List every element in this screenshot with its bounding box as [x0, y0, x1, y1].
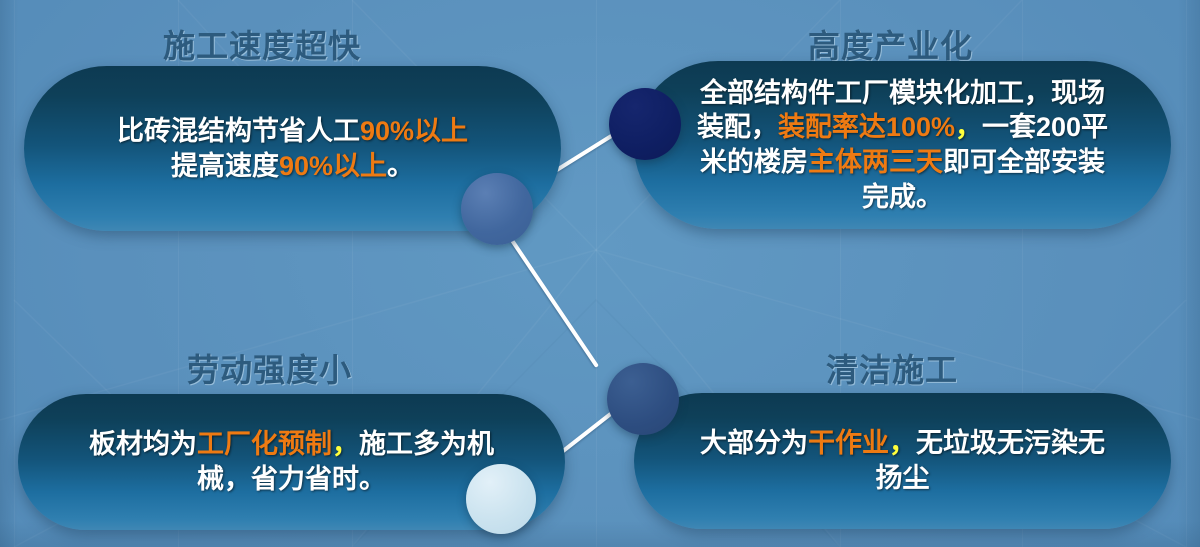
- text-plain: 装配，: [697, 112, 778, 142]
- node-lower-left: [466, 464, 536, 534]
- text-comma-highlight: ，: [955, 112, 982, 142]
- capsule-line: 提高速度90%以上。: [46, 149, 539, 184]
- text-plain: 米的楼房: [700, 147, 808, 177]
- text-plain: 提高速度: [171, 151, 279, 181]
- text-plain: 完成。: [862, 182, 943, 212]
- text-plain: 械，省力省时。: [197, 464, 386, 494]
- capsule-text-high-industrialization: 全部结构件工厂模块化加工，现场 装配，装配率达100%，一套200平 米的楼房主…: [634, 76, 1171, 214]
- capsule-clean-construction: 大部分为干作业，无垃圾无污染无 扬尘: [634, 393, 1171, 529]
- text-highlight: 装配率达100%: [778, 112, 955, 142]
- capsule-line: 装配，装配率达100%，一套200平: [648, 110, 1157, 145]
- capsule-line: 板材均为工厂化预制，施工多为机: [40, 427, 543, 462]
- text-highlight: 干作业: [808, 428, 889, 458]
- background-vignette-right: [1178, 0, 1200, 547]
- text-comma-highlight: ，: [889, 428, 916, 458]
- capsule-line: 大部分为干作业，无垃圾无污染无: [656, 426, 1149, 461]
- text-plain: 无垃圾无污染无: [916, 428, 1105, 458]
- node-center-lower: [607, 363, 679, 435]
- capsule-line: 米的楼房主体两三天即可全部安装: [648, 145, 1157, 180]
- node-upper-right: [609, 88, 681, 160]
- capsule-line: 比砖混结构节省人工90%以上: [46, 114, 539, 149]
- text-plain: 全部结构件工厂模块化加工，现场: [700, 78, 1105, 108]
- text-plain: 一套200平: [982, 112, 1108, 142]
- text-highlight: 90%以上: [279, 151, 387, 181]
- background-vignette-left: [0, 0, 18, 547]
- infographic-slide: 施工速度超快 比砖混结构节省人工90%以上 提高速度90%以上。 高度产业化 全…: [0, 0, 1200, 547]
- text-plain: 施工多为机: [359, 429, 494, 459]
- text-highlight: 工厂化预制: [197, 429, 332, 459]
- capsule-line: 扬尘: [656, 461, 1149, 496]
- text-comma-highlight: ，: [332, 429, 359, 459]
- text-plain: 。: [387, 151, 414, 181]
- text-plain: 大部分为: [700, 428, 808, 458]
- text-plain: 扬尘: [876, 463, 930, 493]
- text-plain: 板材均为: [89, 429, 197, 459]
- capsule-line: 完成。: [648, 180, 1157, 215]
- node-center-upper: [461, 173, 533, 245]
- text-plain: 即可全部安装: [943, 147, 1105, 177]
- text-highlight: 主体两三天: [808, 147, 943, 177]
- capsule-text-construction-speed: 比砖混结构节省人工90%以上 提高速度90%以上。: [24, 114, 561, 183]
- section-title-low-labor-intensity: 劳动强度小: [187, 345, 352, 391]
- text-plain: 比砖混结构节省人工: [117, 116, 360, 146]
- capsule-text-clean-construction: 大部分为干作业，无垃圾无污染无 扬尘: [634, 426, 1171, 495]
- capsule-high-industrialization: 全部结构件工厂模块化加工，现场 装配，装配率达100%，一套200平 米的楼房主…: [634, 61, 1171, 229]
- text-highlight: 90%以上: [360, 116, 468, 146]
- section-title-construction-speed: 施工速度超快: [163, 21, 361, 67]
- capsule-line: 全部结构件工厂模块化加工，现场: [648, 76, 1157, 111]
- section-title-clean-construction: 清洁施工: [826, 345, 958, 391]
